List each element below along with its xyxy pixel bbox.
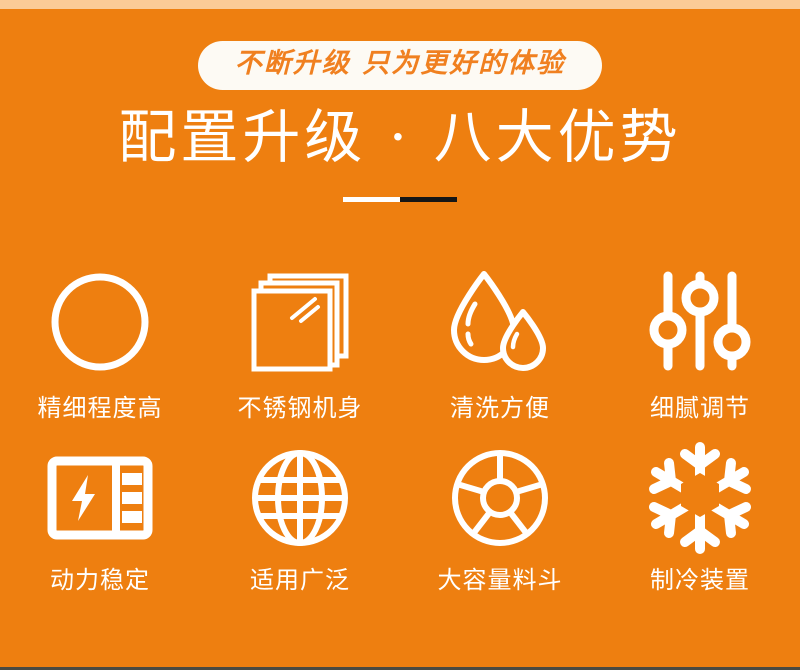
feature-item-cooling: 制冷装置: [600, 442, 800, 614]
page-title: 配置升级 · 八大优势: [118, 104, 681, 171]
feature-label: 大容量料斗: [438, 560, 563, 595]
feature-item-large-hopper: 大容量料斗: [400, 442, 600, 614]
sliders-icon: [648, 262, 752, 382]
title-divider: [0, 197, 800, 202]
feature-label: 清洗方便: [450, 388, 550, 423]
feature-label: 动力稳定: [50, 560, 150, 595]
feature-label: 细腻调节: [650, 388, 750, 423]
feature-item-stainless-body: 不锈钢机身: [200, 262, 400, 442]
divider-left-segment: [343, 197, 400, 202]
feature-item-stable-power: 动力稳定: [0, 442, 200, 614]
feature-item-easy-clean: 清洗方便: [400, 262, 600, 442]
feature-label: 制冷装置: [650, 560, 750, 595]
features-grid: 精细程度高 不锈钢机身 清洗方便: [0, 262, 800, 614]
water-drops-icon: [446, 262, 554, 382]
snowflake-icon: [647, 442, 753, 554]
power-unit-icon: [48, 442, 152, 554]
feature-label: 适用广泛: [250, 560, 350, 595]
divider-right-segment: [400, 197, 457, 202]
feature-label: 不锈钢机身: [238, 388, 363, 423]
steel-panels-icon: [248, 262, 352, 382]
feature-item-wide-use: 适用广泛: [200, 442, 400, 614]
globe-icon: [250, 442, 350, 554]
feature-item-fine-adjust: 细腻调节: [600, 262, 800, 442]
feature-item-precision: 精细程度高: [0, 262, 200, 442]
page-title-wrap: 配置升级 · 八大优势: [0, 104, 800, 171]
top-accent-strip: [0, 0, 800, 9]
header-pill-text: 不断升级 只为更好的体验: [232, 49, 568, 79]
hopper-wheel-icon: [449, 442, 551, 554]
feature-label: 精细程度高: [38, 388, 163, 423]
header-banner: 不断升级 只为更好的体验: [0, 41, 800, 90]
header-pill: 不断升级 只为更好的体验: [198, 41, 602, 90]
circle-icon: [47, 262, 153, 382]
